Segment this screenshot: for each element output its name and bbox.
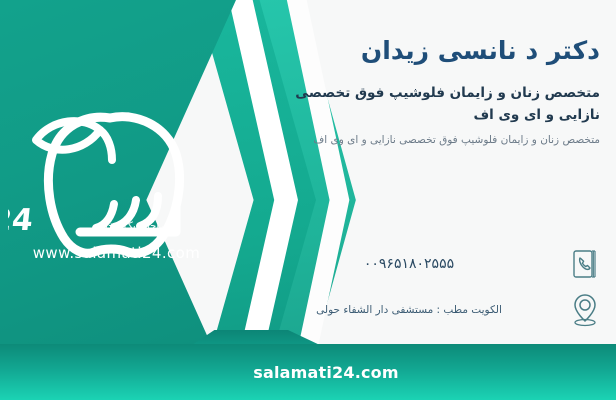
logo-website-url: www.salamati24.com xyxy=(14,244,219,262)
contact-row-address[interactable]: الکویت مطب : مستشفی دار الشفاء حولی xyxy=(262,292,602,328)
map-pin-icon xyxy=(568,292,602,328)
card-text-content: دکتر د نانسی زیدان متخصص زنان و زایمان ف… xyxy=(270,34,600,150)
footer-bar: salamati24.com xyxy=(0,344,616,400)
footer-website-url[interactable]: salamati24.com xyxy=(253,363,399,382)
doctor-specialty-secondary: متخصص زنان و زایمان فلوشیپ فوق تخصصی ناز… xyxy=(270,132,600,150)
doctor-specialty: متخصص زنان و زایمان فلوشیپ فوق تخصصی ناز… xyxy=(270,82,600,127)
contact-row-phone[interactable]: ۰۰۹۶۵۱۸۰۲۵۵۵ xyxy=(262,246,602,282)
clinic-address: الکویت مطب : مستشفی دار الشفاء حولی xyxy=(262,304,556,316)
business-card: 24 به‌راحتی یک لبخند www.salamati24.com … xyxy=(0,0,616,400)
logo-tagline: به‌راحتی یک لبخند xyxy=(76,221,196,232)
brand-logo: 24 به‌راحتی یک لبخند www.salamati24.com xyxy=(8,96,218,286)
svg-text:24: 24 xyxy=(8,203,35,238)
doctor-name: دکتر د نانسی زیدان xyxy=(270,34,600,68)
contact-block: ۰۰۹۶۵۱۸۰۲۵۵۵ الکویت مطب : مستشفی دار الش… xyxy=(262,246,602,338)
phone-number: ۰۰۹۶۵۱۸۰۲۵۵۵ xyxy=(262,256,556,272)
phonebook-icon xyxy=(568,246,602,282)
